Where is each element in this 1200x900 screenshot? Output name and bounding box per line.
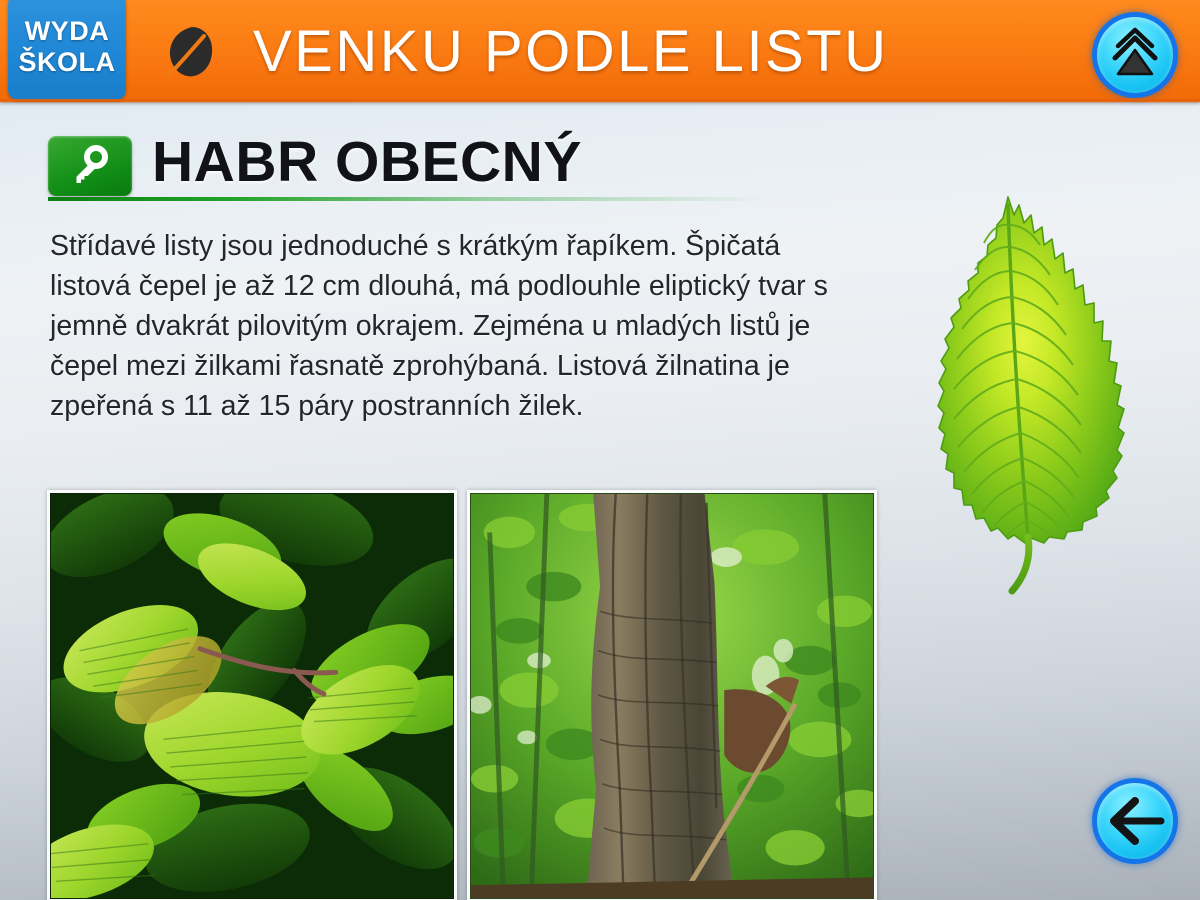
page-title: VENKU PODLE LISTU [253,18,889,86]
leaf-icon [162,24,220,82]
header-accent-line [0,99,1200,103]
key-icon [68,144,112,188]
photo-hornbeam-leaves[interactable] [47,490,457,900]
leaf-illustration [898,175,1164,615]
logo-line-2: ŠKOLA [19,47,116,78]
leaf-petiole [1012,537,1029,591]
leaf-blade [938,197,1124,543]
scroll-up-button[interactable] [1092,12,1178,98]
title-underline [48,197,768,201]
species-description: Střídavé listy jsou jednoduché s krátkým… [50,226,850,426]
app-root: WYDA ŠKOLA VENKU PODLE LISTU [0,0,1200,900]
app-logo-badge[interactable]: WYDA ŠKOLA [8,0,126,100]
double-chevron-up-icon [1106,26,1164,84]
photo-hornbeam-trunk[interactable] [467,490,877,900]
species-title: HABR OBECNÝ [152,128,582,196]
arrow-left-icon [1105,791,1165,851]
app-header: WYDA ŠKOLA VENKU PODLE LISTU [0,0,1200,102]
key-badge[interactable] [48,136,132,196]
back-button[interactable] [1092,778,1178,864]
logo-line-1: WYDA [25,16,110,47]
